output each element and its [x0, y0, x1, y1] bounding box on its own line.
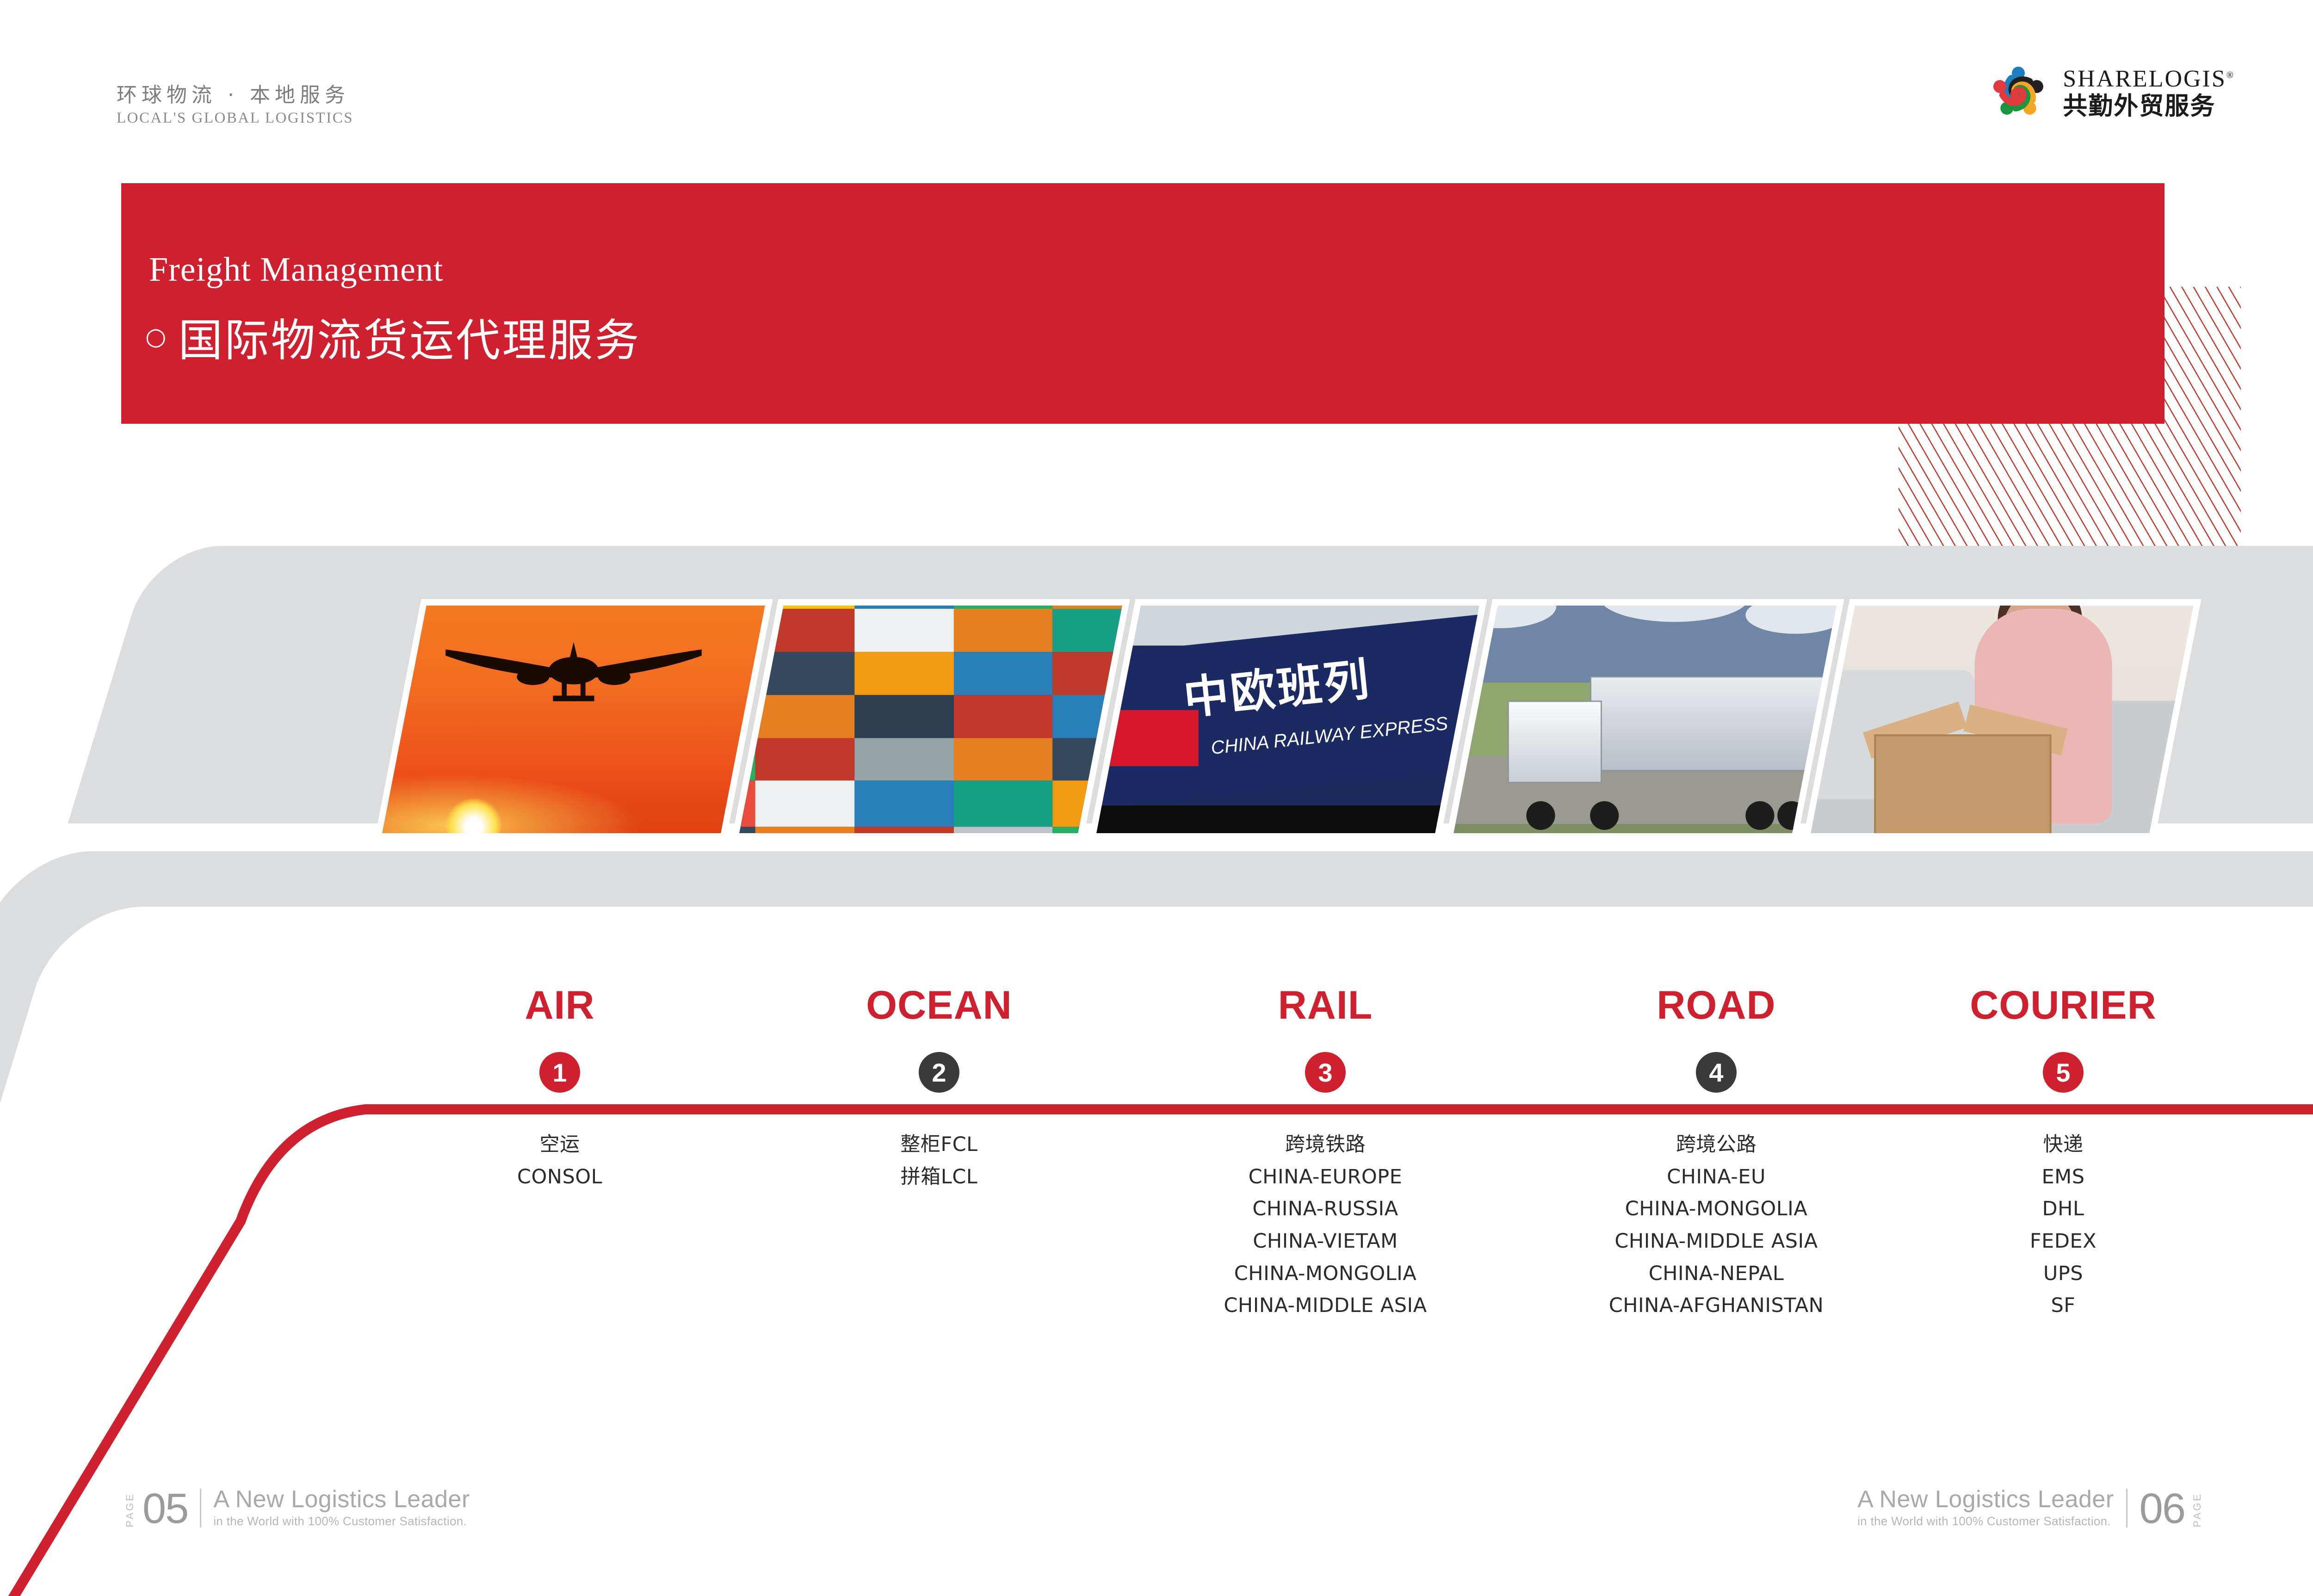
column-rail[interactable]: RAIL 3 跨境铁路 CHINA-EUROPE CHINA-RUSSIA CH… [1182, 985, 1469, 1322]
logo-wordmark: SHARELOGIS® 共勤外贸服务 [2063, 67, 2235, 118]
cr-logo-mark [1105, 710, 1199, 767]
column-heading-courier: COURIER [1934, 985, 2193, 1025]
brand-tagline-cn: 环球物流 · 本地服务 [117, 82, 353, 108]
list-item: CHINA-AFGHANISTAN [1573, 1290, 1860, 1322]
logo-name-en: SHARELOGIS® [2063, 67, 2235, 91]
column-items-air: 空运 CONSOL [430, 1129, 689, 1193]
column-heading-rail: RAIL [1182, 985, 1469, 1025]
list-item: 快递 [1934, 1129, 2193, 1161]
company-logo: SHARELOGIS® 共勤外贸服务 [1986, 60, 2235, 125]
footer-divider-right [2126, 1489, 2127, 1528]
footer-divider-left [200, 1489, 201, 1528]
column-heading-air: AIR [430, 985, 689, 1025]
ocean-freight-photo [731, 599, 1130, 840]
courier-photo [1803, 599, 2201, 840]
column-heading-road: ROAD [1573, 985, 1860, 1025]
transport-photo-strip: 中欧班列 CHINA RAILWAY EXPRESS [398, 599, 2183, 840]
list-item: 拼箱LCL [810, 1161, 1069, 1194]
rail-freight-photo: 中欧班列 CHINA RAILWAY EXPRESS [1088, 599, 1487, 840]
page-title-banner: Freight Management ○ 国际物流货运代理服务 [121, 183, 2165, 424]
list-item: CHINA-VIETAM [1182, 1225, 1469, 1258]
banner-eyebrow: Freight Management [149, 250, 444, 290]
slide-canvas: 环球物流 · 本地服务 LOCAL'S GLOBAL LOGISTICS [0, 0, 2313, 1596]
page-number-left: 05 [142, 1490, 188, 1528]
circle-bullet-icon: ○ [145, 325, 168, 349]
timeline-marker-1[interactable]: 1 [539, 1052, 580, 1093]
pinwheel-people-icon [1986, 60, 2051, 125]
list-item: CHINA-MIDDLE ASIA [1573, 1225, 1860, 1258]
footer-slogan-line2: in the World with 100% Customer Satisfac… [213, 1515, 470, 1528]
list-item: CHINA-EU [1573, 1161, 1860, 1194]
list-item: 跨境铁路 [1182, 1129, 1469, 1161]
list-item: UPS [1934, 1258, 2193, 1290]
column-courier[interactable]: COURIER 5 快递 EMS DHL FEDEX UPS SF [1934, 985, 2193, 1322]
brand-tagline: 环球物流 · 本地服务 LOCAL'S GLOBAL LOGISTICS [117, 82, 353, 127]
air-freight-photo [374, 599, 773, 840]
timeline-marker-5[interactable]: 5 [2043, 1052, 2084, 1093]
page-title: ○ 国际物流货运代理服务 [145, 304, 641, 369]
footer-slogan-left: A New Logistics Leader in the World with… [213, 1487, 470, 1528]
column-items-courier: 快递 EMS DHL FEDEX UPS SF [1934, 1129, 2193, 1322]
column-ocean[interactable]: OCEAN 2 整柜FCL 拼箱LCL [810, 985, 1069, 1193]
column-road[interactable]: ROAD 4 跨境公路 CHINA-EU CHINA-MONGOLIA CHIN… [1573, 985, 1860, 1322]
column-items-ocean: 整柜FCL 拼箱LCL [810, 1129, 1069, 1193]
list-item: CHINA-RUSSIA [1182, 1193, 1469, 1225]
page-label-left: PAGE [124, 1491, 136, 1528]
list-item: SF [1934, 1290, 2193, 1322]
footer-left: PAGE 05 A New Logistics Leader in the Wo… [124, 1487, 470, 1528]
timeline-marker-4[interactable]: 4 [1696, 1052, 1737, 1093]
list-item: CHINA-MONGOLIA [1182, 1258, 1469, 1290]
list-item: DHL [1934, 1193, 2193, 1225]
list-item: CHINA-NEPAL [1573, 1258, 1860, 1290]
list-item: 空运 [430, 1129, 689, 1161]
list-item: CHINA-MONGOLIA [1573, 1193, 1860, 1225]
logo-name-cn: 共勤外贸服务 [2063, 94, 2235, 118]
timeline-marker-2[interactable]: 2 [919, 1052, 959, 1093]
page-label-right: PAGE [2191, 1491, 2203, 1528]
list-item: 整柜FCL [810, 1129, 1069, 1161]
footer-slogan-right: A New Logistics Leader in the World with… [1857, 1487, 2114, 1528]
footer-slogan-line2: in the World with 100% Customer Satisfac… [1857, 1515, 2114, 1528]
column-air[interactable]: AIR 1 空运 CONSOL [430, 985, 689, 1193]
page-number-right: 06 [2140, 1490, 2185, 1528]
list-item: 跨境公路 [1573, 1129, 1860, 1161]
brand-tagline-en: LOCAL'S GLOBAL LOGISTICS [117, 110, 353, 127]
list-item: CHINA-MIDDLE ASIA [1182, 1290, 1469, 1322]
footer-right: A New Logistics Leader in the World with… [1857, 1487, 2203, 1528]
road-freight-photo [1446, 599, 1844, 840]
list-item: CONSOL [430, 1161, 689, 1194]
list-item: FEDEX [1934, 1225, 2193, 1258]
footer-slogan-line1: A New Logistics Leader [213, 1487, 470, 1512]
timeline-marker-3[interactable]: 3 [1305, 1052, 1346, 1093]
column-heading-ocean: OCEAN [810, 985, 1069, 1025]
list-item: EMS [1934, 1161, 2193, 1194]
footer-slogan-line1: A New Logistics Leader [1857, 1487, 2114, 1512]
registered-mark-icon: ® [2226, 70, 2235, 80]
column-items-rail: 跨境铁路 CHINA-EUROPE CHINA-RUSSIA CHINA-VIE… [1182, 1129, 1469, 1322]
page-title-text: 国际物流货运代理服务 [178, 304, 641, 369]
list-item: CHINA-EUROPE [1182, 1161, 1469, 1194]
column-items-road: 跨境公路 CHINA-EU CHINA-MONGOLIA CHINA-MIDDL… [1573, 1129, 1860, 1322]
